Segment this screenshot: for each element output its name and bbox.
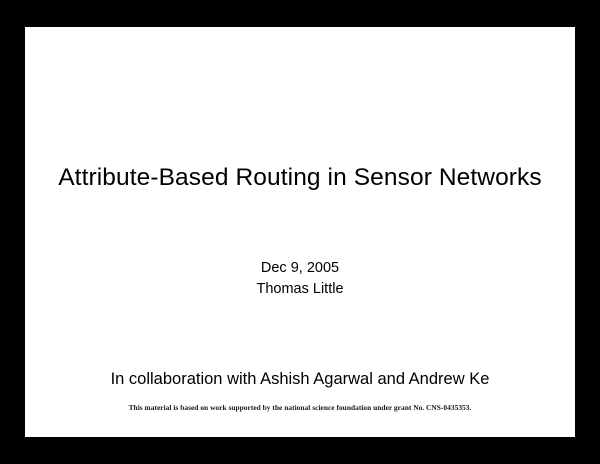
page-title: Attribute-Based Routing in Sensor Networ… — [25, 162, 575, 193]
presenter-name: Thomas Little — [25, 279, 575, 300]
funding-footnote: This material is based on work supported… — [25, 402, 575, 413]
slide-frame: Attribute-Based Routing in Sensor Networ… — [0, 0, 600, 464]
slide-subtitle: Dec 9, 2005 Thomas Little — [25, 258, 575, 300]
collaboration-line: In collaboration with Ashish Agarwal and… — [25, 368, 575, 390]
presentation-date: Dec 9, 2005 — [25, 258, 575, 279]
slide-canvas: Attribute-Based Routing in Sensor Networ… — [25, 27, 575, 437]
